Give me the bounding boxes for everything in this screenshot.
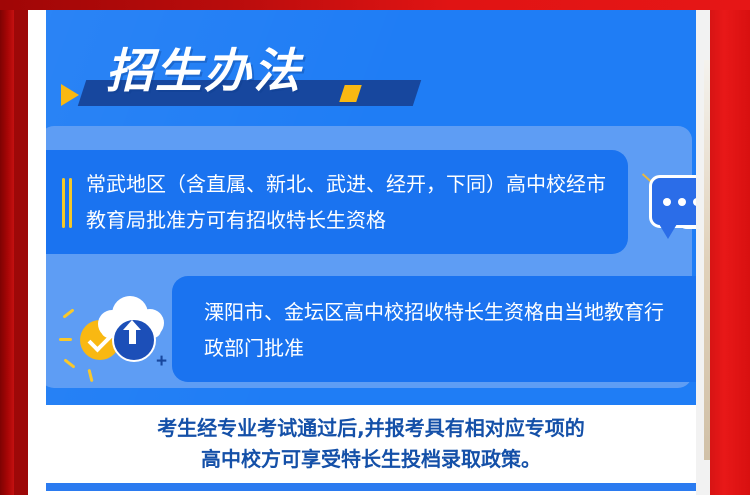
footer-white-rule: [46, 491, 696, 495]
cloud-upload-icon: +: [60, 282, 170, 378]
frame-left-red-band: [0, 0, 28, 495]
footer-blue-rule: [46, 483, 696, 491]
frame-left-white-gap: [28, 0, 46, 495]
footer-note: 考生经专业考试通过后,并报考具有相对应专项的 高中校方可享受特长生投档录取政策。: [46, 405, 696, 483]
list-item: 常武地区（含直属、新北、武进、经开，下同）高中校经市教育局批准方可有招收特长生资…: [46, 150, 628, 254]
frame-right-red-band: [710, 0, 750, 495]
footer-note-line-1: 考生经专业考试通过后,并报考具有相对应专项的: [46, 413, 696, 444]
poster-root: 招生办法 常武地区（含直属、新北、武进、经开，下同）高中校经市教育局批准方可有招…: [0, 0, 750, 495]
chat-bubbles-icon: [643, 173, 696, 245]
plus-accent-icon: +: [156, 352, 167, 371]
footer-note-line-2: 高中校方可享受特长生投档录取政策。: [46, 444, 696, 475]
list-item: 溧阳市、金坛区高中校招收特长生资格由当地教育行政部门批准: [172, 276, 696, 382]
title-block: 招生办法: [46, 32, 696, 112]
frame-left-red-inner: [0, 0, 14, 495]
list-item-text: 常武地区（含直属、新北、武进、经开，下同）高中校经市教育局批准方可有招收特长生资…: [86, 166, 611, 238]
chat-bubble-front: [649, 175, 696, 228]
list-item-text: 溧阳市、金坛区高中校招收特长生资格由当地教育行政部门批准: [204, 294, 674, 366]
upload-arrow-badge: [112, 318, 156, 362]
page-title: 招生办法: [106, 48, 406, 95]
frame-top-red-band: [0, 0, 750, 10]
double-vertical-bar-icon: [62, 178, 74, 228]
triangle-marker-icon: [61, 84, 79, 106]
frame-right-tan-strip: [704, 60, 710, 460]
